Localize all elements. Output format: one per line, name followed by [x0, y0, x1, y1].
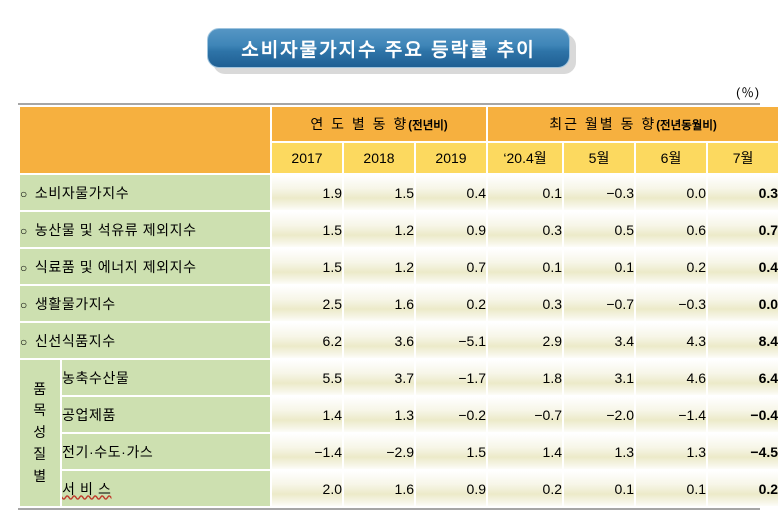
table-row: 서 비 스 2.0 1.6 0.9 0.2 0.1 0.1 0.2: [20, 471, 778, 506]
page-title: 소비자물가지수 주요 등락률 추이: [241, 35, 536, 62]
cell-value: −1.4: [272, 434, 342, 469]
header-col-05: 5월: [564, 143, 634, 173]
row-label-agri-livestock-fishery: 농축수산물: [62, 360, 270, 395]
cell-value: −0.3: [564, 175, 634, 210]
cell-value: 3.7: [344, 360, 414, 395]
cell-value-latest: 0.7: [708, 212, 778, 247]
header-group-yearly: 연 도 별 동 향(전년비): [272, 107, 486, 141]
statistics-table-wrapper: 연 도 별 동 향(전년비) 최근 월별 동 향(전년동월비) 2017 201…: [18, 103, 760, 510]
cell-value: −5.1: [416, 323, 486, 358]
cell-value: 0.9: [416, 471, 486, 506]
row-label-text: 생활물가지수: [35, 296, 116, 312]
table-row: 품 목 성 질 별 농축수산물 5.5 3.7 −1.7 1.8 3.1 4.6…: [20, 360, 778, 395]
cell-value: −0.3: [636, 286, 706, 321]
table-header-row-groups: 연 도 별 동 향(전년비) 최근 월별 동 향(전년동월비): [20, 107, 778, 141]
row-label-text: 신선식품지수: [35, 333, 116, 349]
cell-value: −2.9: [344, 434, 414, 469]
row-label-services: 서 비 스: [62, 471, 270, 506]
cell-value: −0.2: [416, 397, 486, 432]
header-group-yearly-main: 연 도 별 동 향: [310, 116, 408, 132]
row-label-excl-agri-oil: ○농산물 및 석유류 제외지수: [20, 212, 270, 247]
table-row: 전기·수도·가스 −1.4 −2.9 1.5 1.4 1.3 1.3 −4.5: [20, 434, 778, 469]
cell-value: 0.1: [564, 471, 634, 506]
unit-note: (％): [736, 82, 760, 101]
vert-char: 성: [20, 422, 60, 444]
table-row: 공업제품 1.4 1.3 −0.2 −0.7 −2.0 −1.4 −0.4: [20, 397, 778, 432]
header-col-2020-04: ‘20.4월: [488, 143, 562, 173]
vert-char: 질: [20, 444, 60, 466]
banner-body: 소비자물가지수 주요 등락률 추이: [207, 28, 570, 68]
statistics-table: 연 도 별 동 향(전년비) 최근 월별 동 향(전년동월비) 2017 201…: [18, 105, 778, 508]
cell-value: 1.9: [272, 175, 342, 210]
cell-value: 0.7: [416, 249, 486, 284]
header-col-07: 7월: [708, 143, 778, 173]
row-group-label-by-item-type: 품 목 성 질 별: [20, 360, 60, 506]
header-col-2018: 2018: [344, 143, 414, 173]
title-banner: 소비자물가지수 주요 등락률 추이: [207, 28, 570, 68]
cell-value: 1.5: [272, 249, 342, 284]
row-label-cpi: ○소비자물가지수: [20, 175, 270, 210]
cell-value: 1.2: [344, 212, 414, 247]
header-group-yearly-sub: (전년비): [408, 120, 447, 132]
cell-value: 0.9: [416, 212, 486, 247]
cell-value: −0.7: [488, 397, 562, 432]
bullet-icon: ○: [20, 261, 28, 275]
cell-value: 0.5: [564, 212, 634, 247]
row-label-text: 서 비 스: [62, 481, 111, 497]
row-label-text: 소비자물가지수: [35, 185, 129, 201]
row-label-electricity-water-gas: 전기·수도·가스: [62, 434, 270, 469]
cell-value-latest: −4.5: [708, 434, 778, 469]
cell-value-latest: 0.4: [708, 249, 778, 284]
cell-value: 5.5: [272, 360, 342, 395]
header-group-monthly-main: 최근 월별 동 향: [549, 116, 656, 132]
table-row: ○소비자물가지수 1.9 1.5 0.4 0.1 −0.3 0.0 0.3: [20, 175, 778, 210]
cell-value-latest: 6.4: [708, 360, 778, 395]
table-row: ○농산물 및 석유류 제외지수 1.5 1.2 0.9 0.3 0.5 0.6 …: [20, 212, 778, 247]
cell-value: 1.5: [416, 434, 486, 469]
cell-value: 0.2: [416, 286, 486, 321]
header-col-06: 6월: [636, 143, 706, 173]
cell-value: −1.4: [636, 397, 706, 432]
header-col-2017: 2017: [272, 143, 342, 173]
vert-char: 품: [20, 379, 60, 401]
bullet-icon: ○: [20, 335, 28, 349]
cell-value-latest: 0.3: [708, 175, 778, 210]
cell-value: 0.2: [636, 249, 706, 284]
cell-value-latest: 8.4: [708, 323, 778, 358]
cell-value: 3.4: [564, 323, 634, 358]
row-label-industrial-products: 공업제품: [62, 397, 270, 432]
header-group-monthly: 최근 월별 동 향(전년동월비): [488, 107, 778, 141]
cell-value: 6.2: [272, 323, 342, 358]
cell-value: 1.3: [564, 434, 634, 469]
cell-value: 0.0: [636, 175, 706, 210]
table-row: ○신선식품지수 6.2 3.6 −5.1 2.9 3.4 4.3 8.4: [20, 323, 778, 358]
cell-value-latest: −0.4: [708, 397, 778, 432]
cell-value: −2.0: [564, 397, 634, 432]
bullet-icon: ○: [20, 224, 28, 238]
cell-value: 1.5: [272, 212, 342, 247]
cell-value: 4.3: [636, 323, 706, 358]
cell-value: 3.6: [344, 323, 414, 358]
cell-value: 0.1: [564, 249, 634, 284]
cell-value: −1.7: [416, 360, 486, 395]
cell-value: 0.4: [416, 175, 486, 210]
cell-value: 1.4: [272, 397, 342, 432]
cell-value: 2.9: [488, 323, 562, 358]
header-corner-cell: [20, 107, 270, 173]
cell-value: 1.4: [488, 434, 562, 469]
cell-value: 1.6: [344, 286, 414, 321]
table-row: ○식료품 및 에너지 제외지수 1.5 1.2 0.7 0.1 0.1 0.2 …: [20, 249, 778, 284]
bullet-icon: ○: [20, 187, 28, 201]
cell-value: 0.1: [636, 471, 706, 506]
cell-value: −0.7: [564, 286, 634, 321]
cell-value: 4.6: [636, 360, 706, 395]
row-label-text: 농산물 및 석유류 제외지수: [35, 222, 197, 238]
cell-value: 2.0: [272, 471, 342, 506]
row-label-text: 식료품 및 에너지 제외지수: [35, 259, 197, 275]
bullet-icon: ○: [20, 298, 28, 312]
cell-value: 0.2: [488, 471, 562, 506]
cell-value: 1.3: [344, 397, 414, 432]
table-row: ○생활물가지수 2.5 1.6 0.2 0.3 −0.7 −0.3 0.0: [20, 286, 778, 321]
cell-value: 1.3: [636, 434, 706, 469]
row-label-excl-food-energy: ○식료품 및 에너지 제외지수: [20, 249, 270, 284]
cell-value-latest: 0.2: [708, 471, 778, 506]
cell-value: 0.3: [488, 212, 562, 247]
cell-value: 1.5: [344, 175, 414, 210]
cell-value: 1.6: [344, 471, 414, 506]
row-label-fresh-food: ○신선식품지수: [20, 323, 270, 358]
row-label-living-cost: ○생활물가지수: [20, 286, 270, 321]
cell-value: 1.2: [344, 249, 414, 284]
vert-char: 목: [20, 400, 60, 422]
cell-value: 0.3: [488, 286, 562, 321]
cell-value: 0.6: [636, 212, 706, 247]
header-group-monthly-sub: (전년동월비): [656, 120, 717, 132]
cell-value: 3.1: [564, 360, 634, 395]
cell-value: 0.1: [488, 249, 562, 284]
cell-value: 2.5: [272, 286, 342, 321]
vert-char: 별: [20, 466, 60, 488]
cell-value: 0.1: [488, 175, 562, 210]
cell-value-latest: 0.0: [708, 286, 778, 321]
cell-value: 1.8: [488, 360, 562, 395]
header-col-2019: 2019: [416, 143, 486, 173]
